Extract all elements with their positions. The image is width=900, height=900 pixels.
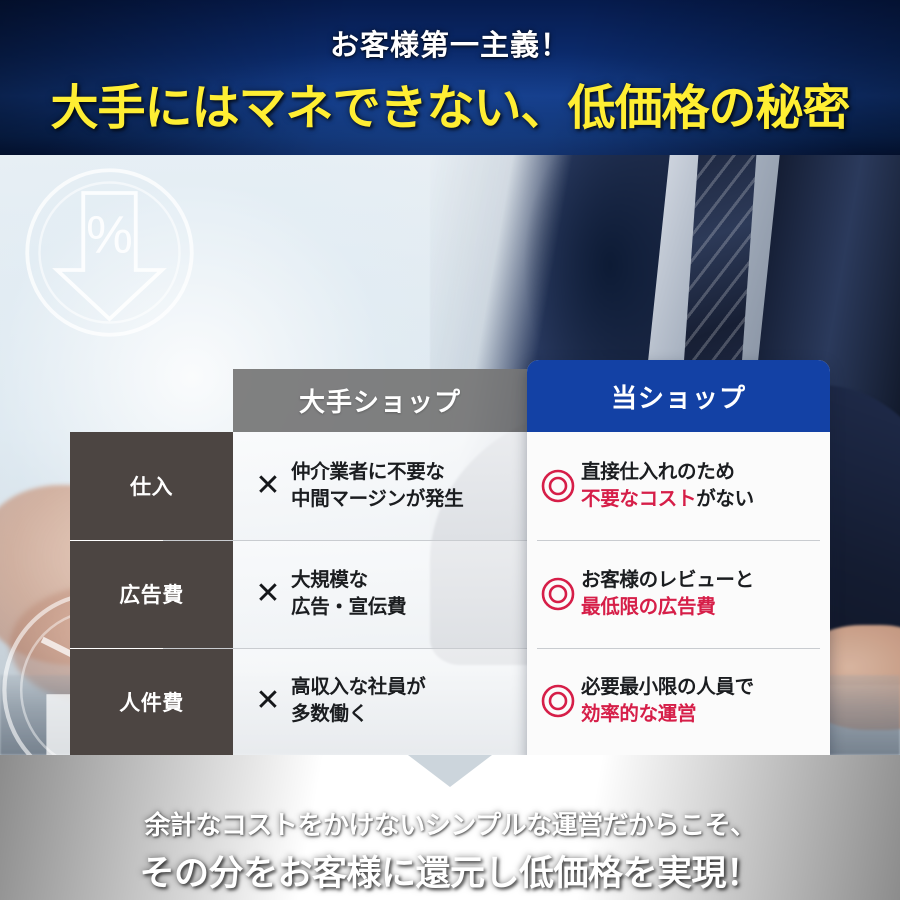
cross-mark-icon: ✕ [245,471,291,501]
our-shop-card: 当ショップ 直接仕入れのため 不要なコストがない [527,360,830,755]
row-ours-highlight: 不要なコスト [581,488,696,510]
row-label-cell: 人件費 [70,648,233,756]
row-ours-line1: 直接仕入れのため [581,459,754,486]
row-major-line1: 大規模な [291,567,406,594]
row-major-line1: 仲介業者に不要な [291,459,463,486]
table-row: 広告費 ✕ 大規模な 広告・宣伝費 [70,540,530,648]
row-label-cell: 広告費 [70,540,233,648]
header-title: 大手にはマネできない、低価格の秘密 [0,68,900,138]
row-ours-highlight: 効率的な運営 [581,703,696,725]
row-ours-line2: 最低限の広告費 [581,594,754,621]
table-row: 人件費 ✕ 高収入な社員が 多数働く [70,648,530,756]
row-label-cell: 仕入 [70,432,233,540]
header-subtitle: お客様第一主義！ [0,22,900,64]
row-ours-highlight: 最低限の広告費 [581,596,715,618]
row-major-line2: 多数働く [291,701,425,728]
double-circle-icon [535,684,581,718]
table-rows-left: 仕入 ✕ 仲介業者に不要な 中間マージンが発生 広告費 [70,432,530,755]
table-row: お客様のレビューと 最低限の広告費 [527,540,830,648]
row-label: 広告費 [119,579,184,609]
cross-mark-icon: ✕ [245,686,291,716]
double-circle-icon [535,469,581,503]
column-header-our-shop-label: 当ショップ [611,378,746,415]
main-stage: % 大手ショップ 仕入 [0,155,900,755]
cross-mark-icon: ✕ [245,579,291,609]
footer-line2: その分をお客様に還元し低価格を実現！ [0,845,900,896]
header-banner: お客様第一主義！ 大手にはマネできない、低価格の秘密 [0,0,900,155]
row-ours-line2: 不要なコストがない [581,486,754,513]
table-row: 仕入 ✕ 仲介業者に不要な 中間マージンが発生 [70,432,530,540]
table-row: 必要最小限の人員で 効率的な運営 [527,648,830,756]
row-ours-cell: 必要最小限の人員で 効率的な運営 [527,648,830,756]
comparison-table: 大手ショップ 仕入 ✕ 仲介業者に不要な 中間マージンが発生 [70,360,830,755]
column-header-major-shop-label: 大手ショップ [299,382,461,419]
row-major-cell: ✕ 大規模な 広告・宣伝費 [233,540,530,648]
row-major-cell: ✕ 仲介業者に不要な 中間マージンが発生 [233,432,530,540]
row-major-text: 仲介業者に不要な 中間マージンが発生 [291,459,463,513]
row-label: 人件費 [119,687,184,717]
footer-notch-triangle [408,755,492,787]
infographic-page: お客様第一主義！ 大手にはマネできない、低価格の秘密 % [0,0,900,900]
row-label: 仕入 [130,471,173,501]
row-major-line2: 中間マージンが発生 [291,486,463,513]
row-ours-text: 直接仕入れのため 不要なコストがない [581,459,754,513]
row-major-line1: 高収入な社員が [291,674,425,701]
table-row: 直接仕入れのため 不要なコストがない [527,432,830,540]
footer-banner: 余計なコストをかけないシンプルな運営だからこそ、 その分をお客様に還元し低価格を… [0,755,900,900]
footer-line1: 余計なコストをかけないシンプルな運営だからこそ、 [0,805,900,842]
row-major-text: 大規模な 広告・宣伝費 [291,567,406,621]
row-ours-line1: お客様のレビューと [581,567,754,594]
column-header-major-shop: 大手ショップ [233,369,527,432]
row-ours-line1: 必要最小限の人員で [581,674,754,701]
row-ours-cell: 直接仕入れのため 不要なコストがない [527,432,830,540]
double-circle-icon [535,577,581,611]
row-ours-suffix: がない [696,488,754,510]
row-ours-line2: 効率的な運営 [581,701,754,728]
row-major-line2: 広告・宣伝費 [291,594,406,621]
row-major-text: 高収入な社員が 多数働く [291,674,425,728]
row-ours-text: お客様のレビューと 最低限の広告費 [581,567,754,621]
row-major-cell: ✕ 高収入な社員が 多数働く [233,648,530,756]
row-ours-cell: お客様のレビューと 最低限の広告費 [527,540,830,648]
column-header-our-shop: 当ショップ [527,360,830,432]
row-ours-text: 必要最小限の人員で 効率的な運営 [581,674,754,728]
